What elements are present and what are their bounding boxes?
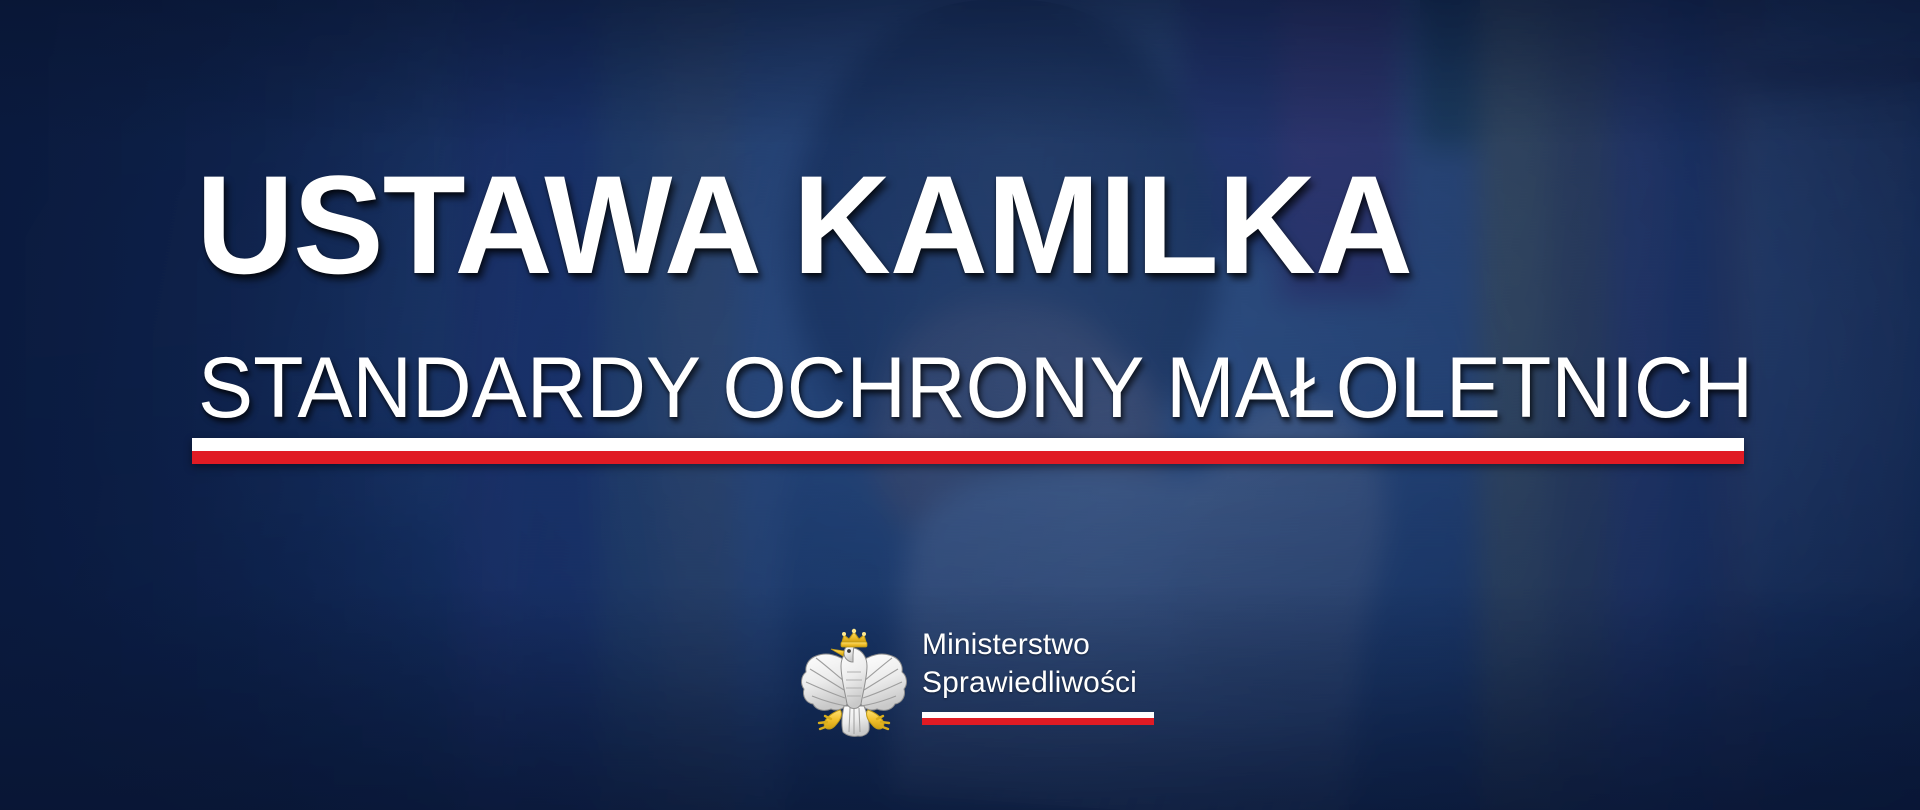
banner-subtitle: STANDARDY OCHRONY MAŁOLETNICH	[198, 345, 1753, 431]
ministry-flag-bar	[922, 712, 1154, 725]
ministry-line-2: Sprawiedliwości	[922, 664, 1162, 702]
ministry-flag-red	[922, 718, 1154, 725]
text-block: USTAWA KAMILKA STANDARDY OCHRONY MAŁOLET…	[0, 0, 1920, 810]
banner-title: USTAWA KAMILKA	[196, 155, 1412, 295]
polish-flag-accent-bar	[192, 438, 1744, 464]
flag-stripe-red	[192, 451, 1744, 464]
ministry-logo-text: Ministerstwo Sprawiedliwości	[922, 626, 1162, 702]
ministry-logo: Ministerstwo Sprawiedliwości	[800, 622, 1160, 747]
ministry-line-1: Ministerstwo	[922, 626, 1162, 664]
flag-stripe-white	[192, 438, 1744, 451]
polish-eagle-icon	[800, 624, 908, 742]
campaign-banner: USTAWA KAMILKA STANDARDY OCHRONY MAŁOLET…	[0, 0, 1920, 810]
